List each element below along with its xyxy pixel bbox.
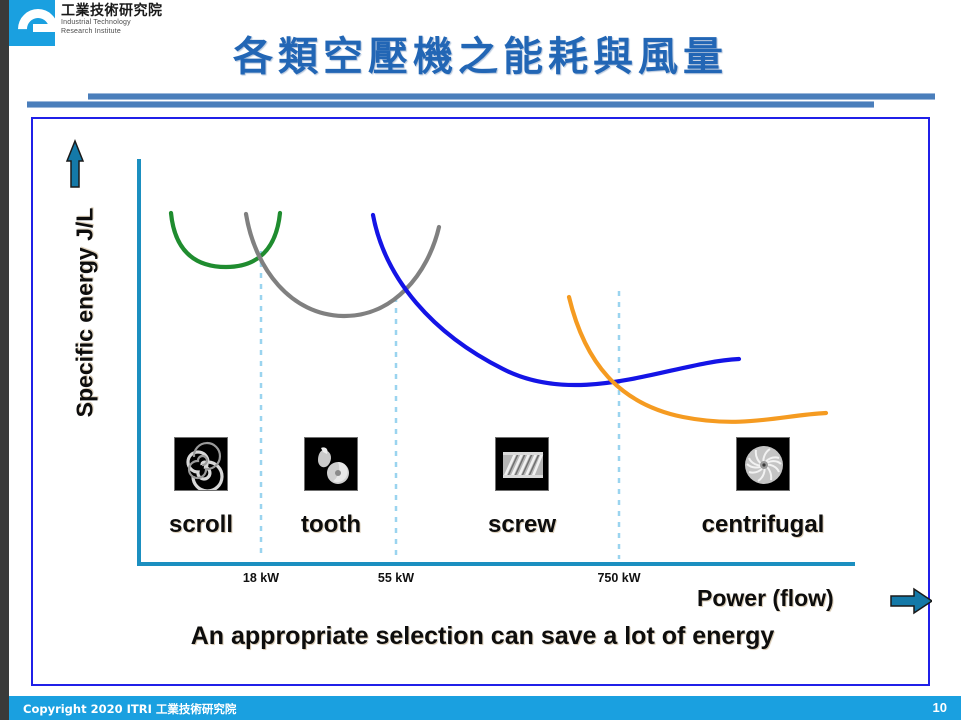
title-rule-lower <box>27 101 874 108</box>
footer-bar: Copyright 2020 ITRI 工業技術研究院 10 <box>9 696 961 720</box>
y-axis-label: Specific energy J/L <box>72 203 99 423</box>
logo-name-cn: 工業技術研究院 <box>61 3 301 19</box>
category-label-centrifugal: centrifugal <box>673 511 853 539</box>
curve-scroll <box>171 213 280 267</box>
x-tick-18kw: 18 kW <box>226 571 296 585</box>
curve-centrifugal <box>569 297 826 422</box>
page-title: 各類空壓機之能耗與風量 <box>0 24 961 82</box>
x-tick-55kw: 55 kW <box>361 571 431 585</box>
x-tick-750kw: 750 kW <box>584 571 654 585</box>
y-axis-arrow-icon <box>67 141 83 187</box>
x-axis-label: Power (flow) <box>697 585 834 612</box>
category-label-tooth: tooth <box>271 511 391 539</box>
footer-page-number: 10 <box>933 700 947 715</box>
centrifugal-compressor-icon <box>736 437 790 491</box>
title-rule-upper <box>88 93 935 100</box>
tooth-compressor-icon <box>304 437 358 491</box>
category-label-screw: screw <box>462 511 582 539</box>
x-axis-arrow-icon <box>891 589 932 613</box>
slide: 工業技術研究院 Industrial Technology Research I… <box>0 0 961 720</box>
slide-caption: An appropriate selection can save a lot … <box>33 622 932 651</box>
category-label-scroll: scroll <box>141 511 261 539</box>
footer-copyright: Copyright 2020 ITRI 工業技術研究院 <box>23 701 236 717</box>
screw-compressor-icon <box>495 437 549 491</box>
left-gutter-strip <box>0 0 9 720</box>
content-panel: Specific energy J/L Power (flow) 18 kW 5… <box>31 117 930 686</box>
curve-screw <box>373 215 739 385</box>
specific-energy-chart: Specific energy J/L Power (flow) 18 kW 5… <box>33 119 932 688</box>
scroll-compressor-icon <box>174 437 228 491</box>
